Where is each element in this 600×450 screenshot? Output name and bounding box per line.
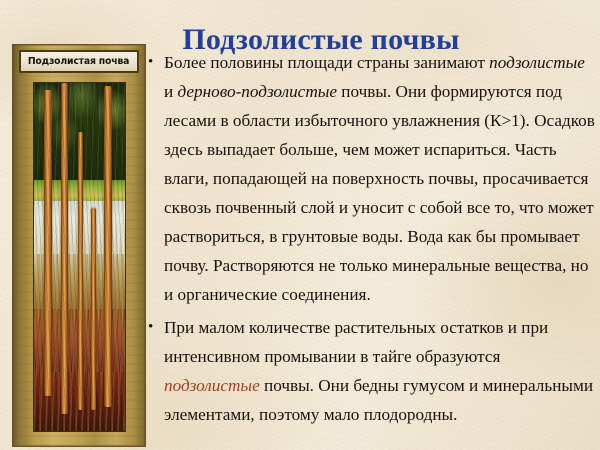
illustration-caption-box: Подзолистая почва (19, 50, 139, 73)
bullet-item: •Более половины площади страны занимают … (146, 48, 598, 309)
emphasis-term: подзолистые (489, 53, 585, 72)
bullet-item: •При малом количестве растительных остат… (146, 313, 598, 429)
tree-trunk-3 (78, 132, 83, 410)
tree-trunk-4 (91, 208, 96, 410)
slide-canvas: Подзолистые почвы Подзолистая почва •Бол… (0, 0, 600, 450)
text-run: и (164, 82, 178, 101)
text-run: При малом количестве растительных остатк… (164, 318, 548, 366)
bullet-2-text: При малом количестве растительных остатк… (164, 313, 598, 429)
tree-trunk-2 (61, 83, 67, 414)
bullet-1-text: Более половины площади страны занимают п… (164, 48, 598, 309)
text-run: почвы. Они формируются под лесами в обла… (164, 82, 595, 304)
body-text: •Более половины площади страны занимают … (146, 48, 598, 429)
soil-profile-image (33, 82, 126, 432)
emphasis-term: дерново-подзолистые (178, 82, 338, 101)
text-run: Более половины площади страны занимают (164, 53, 489, 72)
illustration-caption-label: Подзолистая почва (28, 56, 129, 67)
highlighted-term: подзолистые (164, 376, 260, 395)
illustration-frame: Подзолистая почва (12, 44, 146, 447)
tree-trunk-1 (44, 90, 52, 396)
tree-trunk-5 (104, 86, 112, 406)
bullet-marker-icon: • (146, 48, 164, 77)
bullet-marker-icon: • (146, 313, 164, 342)
